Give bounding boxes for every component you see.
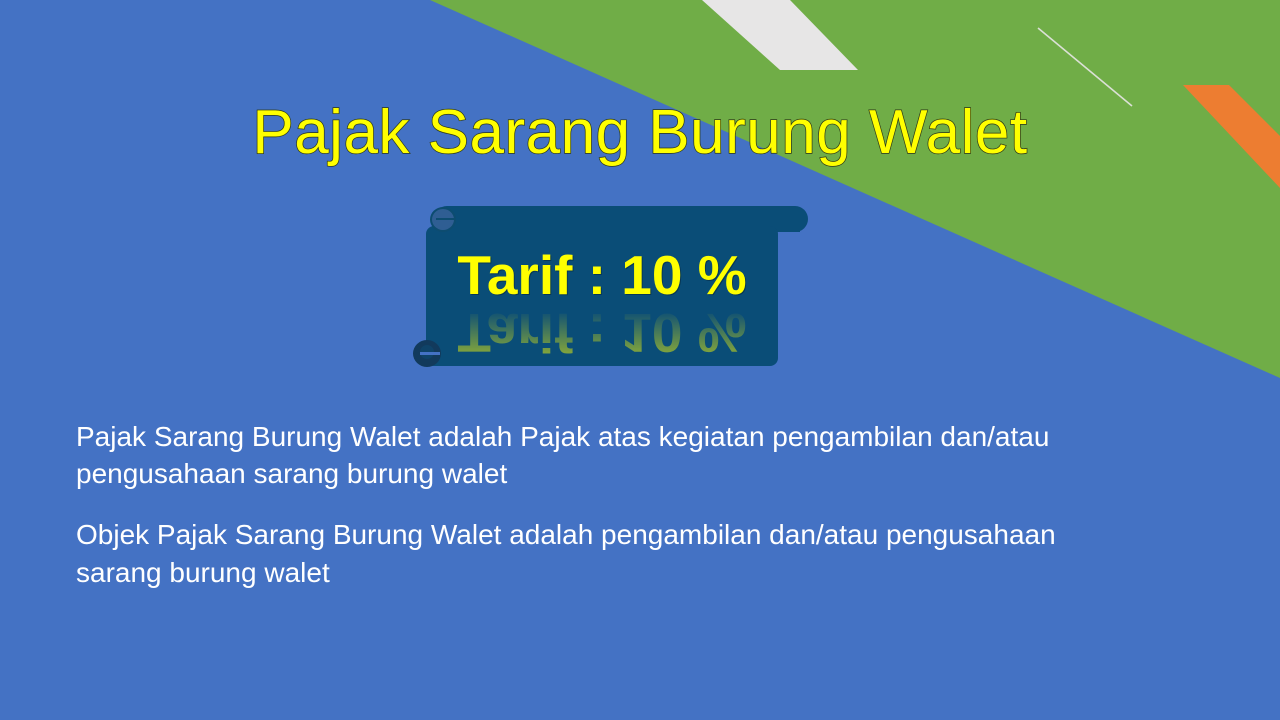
tariff-banner: Tarif : 10 % Tarif : 10 % — [408, 200, 804, 372]
banner-text-group: Tarif : 10 % Tarif : 10 % — [426, 248, 778, 360]
body-paragraph-1: Pajak Sarang Burung Walet adalah Pajak a… — [76, 418, 1116, 492]
slide-title: Pajak Sarang Burung Walet — [0, 102, 1280, 164]
tariff-label-reflection: Tarif : 10 % — [426, 305, 778, 360]
presentation-slide: Pajak Sarang Burung Walet Tarif : 10 % T… — [0, 0, 1280, 720]
banner-curl-top-left-icon — [430, 207, 456, 232]
body-paragraph-2: Objek Pajak Sarang Burung Walet adalah p… — [76, 516, 1116, 590]
tariff-label: Tarif : 10 % — [426, 248, 778, 303]
body-text-block: Pajak Sarang Burung Walet adalah Pajak a… — [76, 418, 1116, 591]
